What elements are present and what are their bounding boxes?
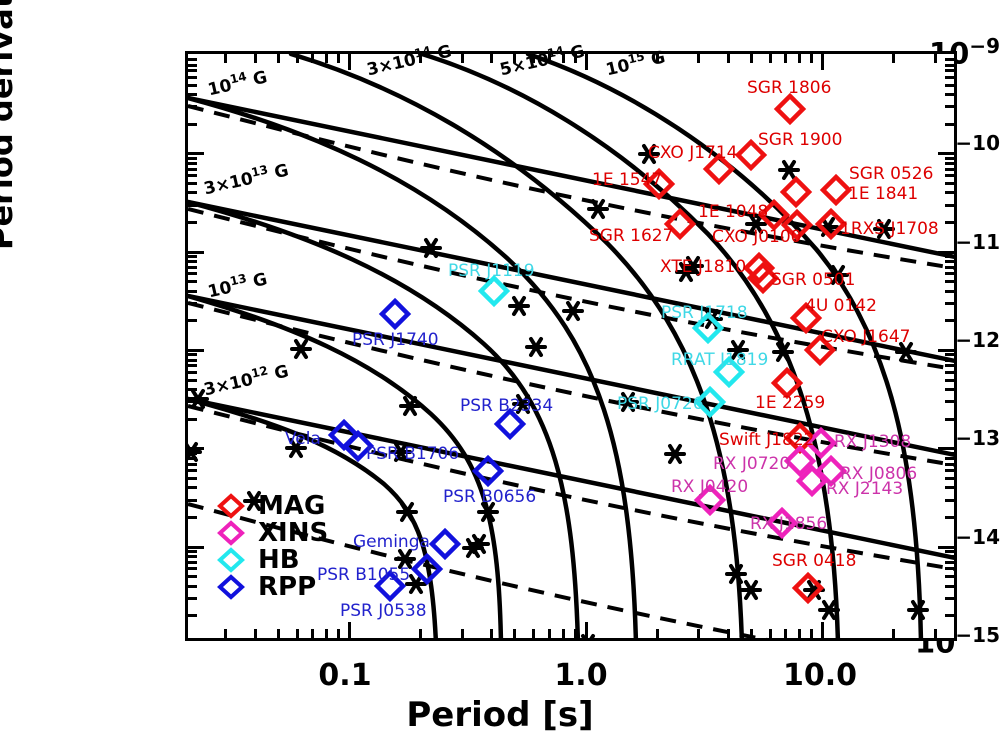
legend-item-hb[interactable]: HB [216, 546, 328, 573]
source-label-4u-0142: 4U 0142 [805, 298, 877, 315]
figure-canvas: Period derivative Period [s] 10−9 10−10 … [0, 0, 1000, 750]
x-axis-title: Period [s] [0, 695, 1000, 735]
source-label-sgr-0526: SGR 0526 [849, 166, 933, 183]
x-tick-label-0-1: 0.1 [285, 658, 405, 693]
legend-item-xins[interactable]: XINS [216, 519, 328, 546]
source-label-psr-j0538: PSR J0538 [340, 603, 427, 620]
legend-diamond-rpp [216, 574, 246, 600]
legend-item-rpp[interactable]: RPP [216, 573, 328, 600]
source-label-geminga: Geminga [353, 534, 430, 551]
source-label-rx-j1308: RX J1308 [834, 434, 911, 451]
source-label-rrat-j1819: RRAT J1819 [671, 352, 768, 369]
source-label-1e-2259: 1E 2259 [755, 395, 825, 412]
x-tick-label-10-0: 10.0 [750, 658, 890, 693]
legend-item-mag[interactable]: MAG [216, 492, 328, 519]
source-label-psr-b1055: PSR B1055 [317, 567, 410, 584]
source-label-rx-j0420: RX J0420 [671, 479, 748, 496]
data-marker-sgr-0526[interactable] [783, 179, 809, 205]
data-marker-geminga[interactable] [432, 531, 458, 557]
source-label-sgr-1806: SGR 1806 [747, 80, 831, 97]
source-label-1e-1841: 1E 1841 [848, 186, 918, 203]
x-tick-label-1-0: 1.0 [521, 658, 641, 693]
source-label-psr-b2334: PSR B2334 [460, 398, 553, 415]
source-label-sgr-0501: SGR 0501 [771, 272, 855, 289]
legend-label-hb: HB [258, 547, 300, 573]
source-label-rx-j0720: RX J0720 [713, 456, 790, 473]
legend-diamond-xins [216, 520, 246, 546]
source-label-psr-j0726: PSR J0726 [617, 396, 704, 413]
source-label-rx-j1856: RX J1856 [750, 516, 827, 533]
source-label-cxo-j1714: CXO J1714 [648, 145, 738, 162]
data-marker-1e-1841[interactable] [823, 177, 849, 203]
y-axis-title: Period derivative [0, 0, 20, 250]
source-label-rx-j2143: RX J2143 [826, 481, 903, 498]
source-label-psr-b1706: PSR B1706 [366, 446, 459, 463]
legend-label-xins: XINS [258, 520, 328, 546]
source-label-vela: Vela [285, 431, 321, 448]
source-label-cxo-j1647: CXO J1647 [821, 329, 911, 346]
source-label-psr-j1718: PSR J1718 [661, 305, 748, 322]
source-label-1e-1048: 1E 1048 [698, 204, 768, 221]
legend-label-rpp: RPP [258, 574, 316, 600]
source-label-1rxs-j1708: 1RXS J1708 [840, 221, 939, 238]
data-marker-psr-j1740[interactable] [382, 301, 408, 327]
source-label-swift-j1822: Swift J1822 [719, 432, 814, 449]
legend-diamond-hb [216, 547, 246, 573]
source-label-psr-j1119: PSR J1119 [448, 263, 535, 280]
source-label-cxo-j0100: CXO J0100 [712, 229, 802, 246]
source-label-sgr-1627: SGR 1627 [589, 228, 673, 245]
source-label-sgr-1900: SGR 1900 [758, 132, 842, 149]
source-label-sgr-0418: SGR 0418 [772, 553, 856, 570]
source-label-psr-j1740: PSR J1740 [352, 332, 439, 349]
source-label-psr-b0656: PSR B0656 [443, 489, 536, 506]
source-label-xte-j1810: XTE J1810 [660, 259, 746, 276]
legend-label-mag: MAG [258, 493, 325, 519]
data-marker-sgr-1806[interactable] [777, 96, 803, 122]
legend: MAG XINS HB RPP [216, 492, 328, 600]
legend-diamond-mag [216, 493, 246, 519]
source-label-1e-1547: 1E 1547 [592, 172, 662, 189]
